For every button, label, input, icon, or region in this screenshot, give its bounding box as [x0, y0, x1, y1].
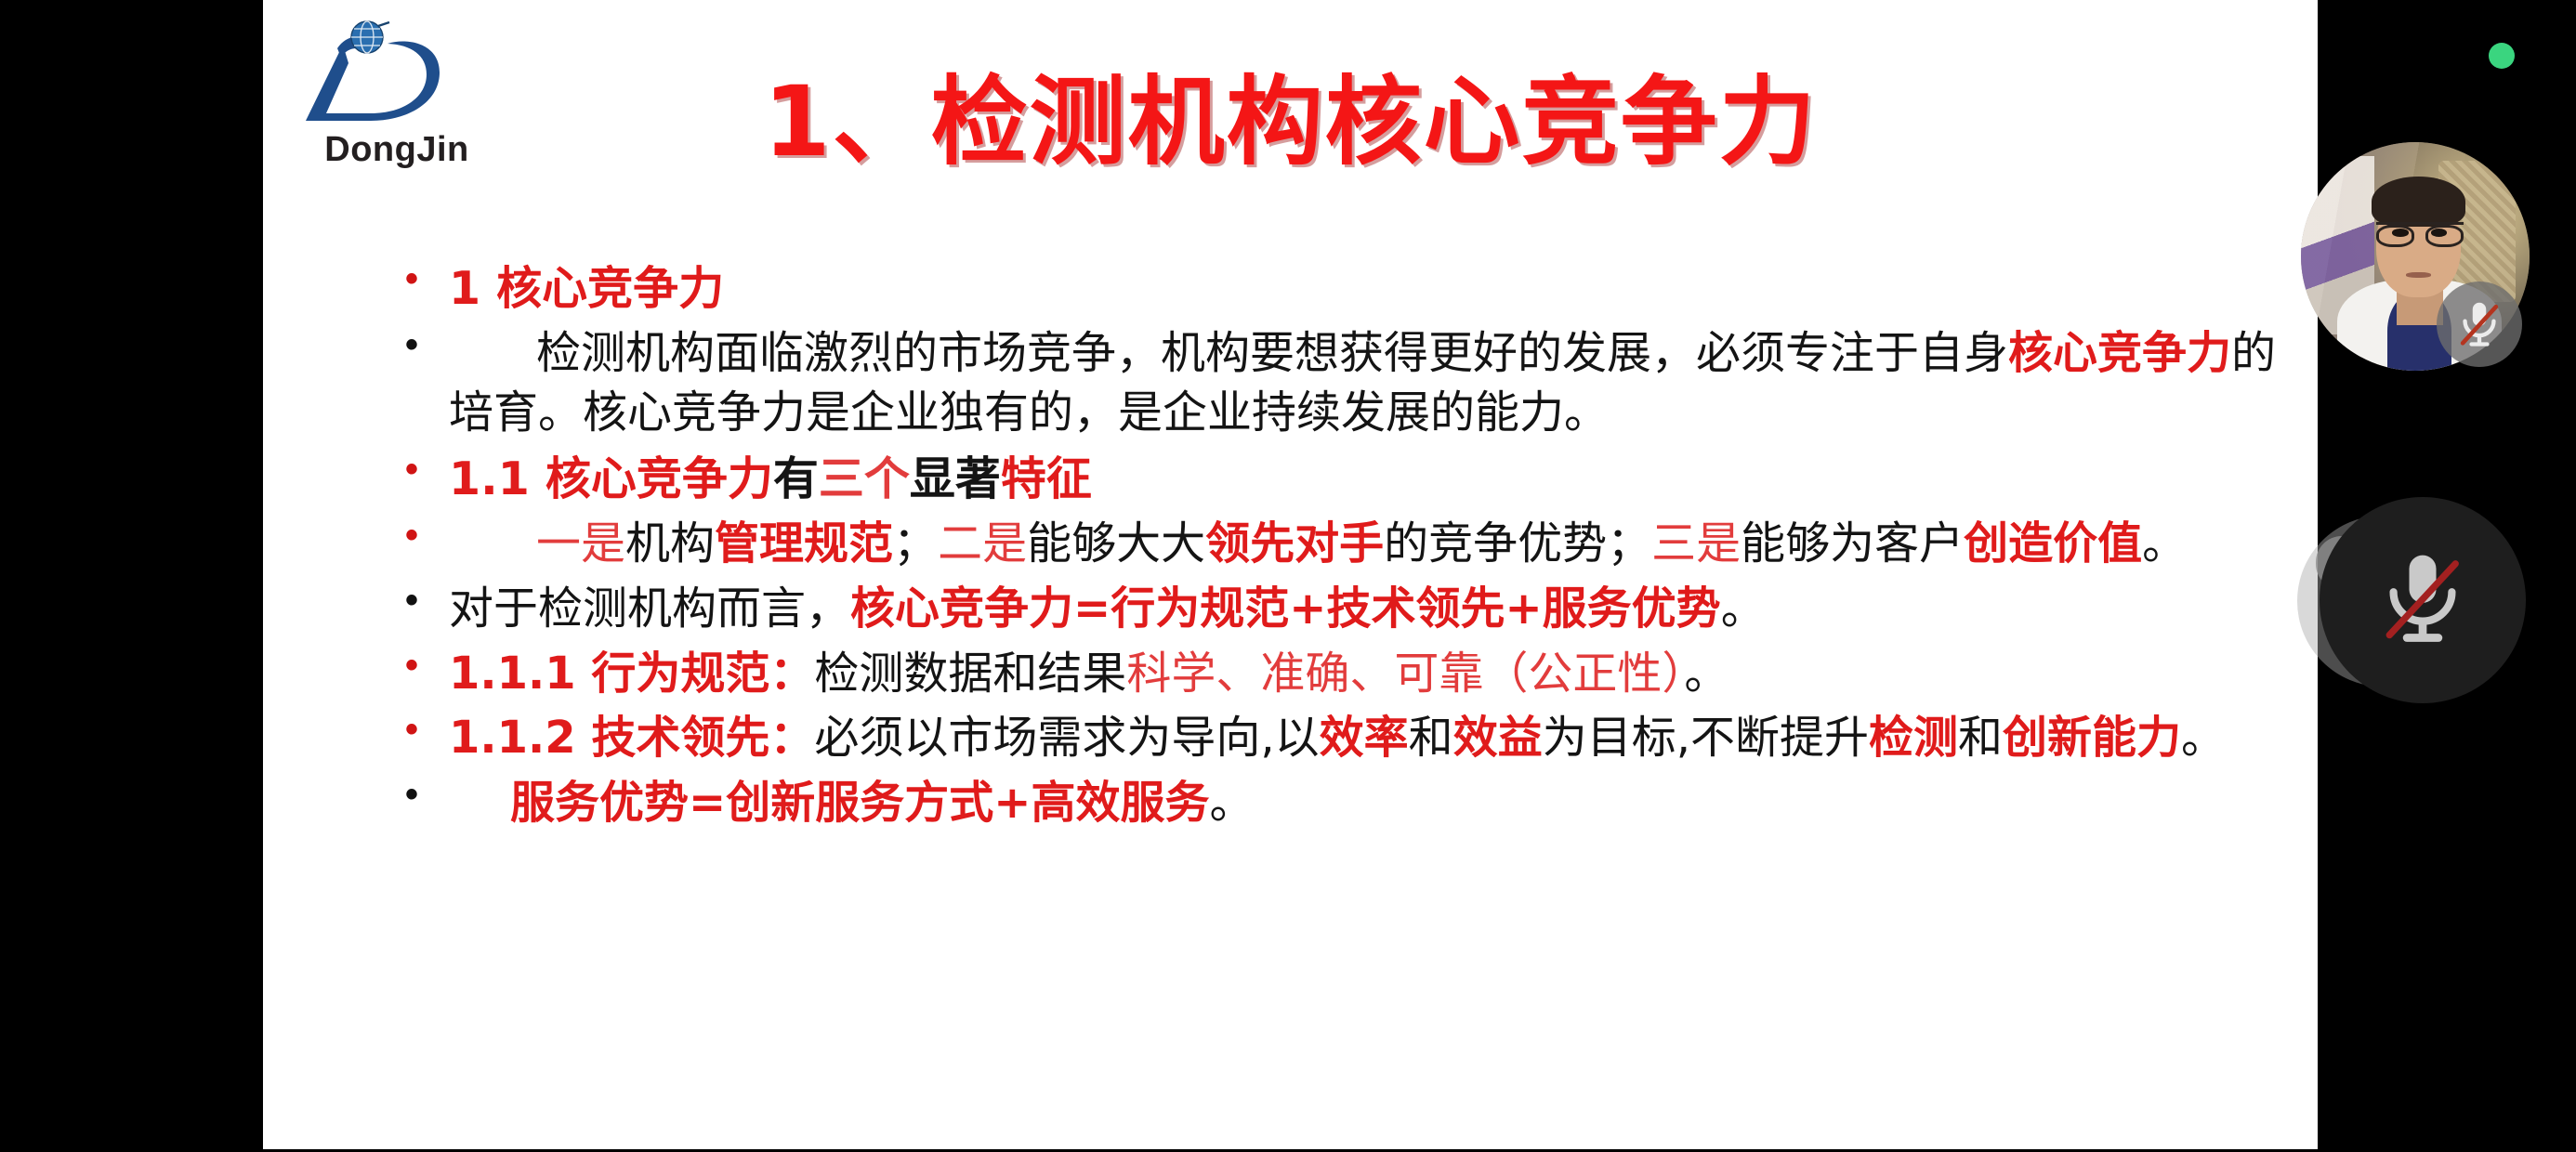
list-item-text: 1.1.1 行为规范：检测数据和结果科学、准确、可靠（公正性）。: [449, 648, 1728, 700]
slide-title: 1、检测机构核心竞争力: [263, 65, 2318, 179]
bullet-glyph: •: [400, 449, 424, 491]
bullet-glyph: •: [400, 774, 424, 816]
mute-toggle-button[interactable]: [2320, 497, 2526, 703]
presentation-slide: DongJin 1、检测机构核心竞争力 • 1 核心竞争力 • 检测机构面临激烈…: [263, 0, 2318, 1149]
participant-tile[interactable]: 朱雄飞: [2301, 142, 2530, 371]
list-item: • 1.1.1 行为规范：检测数据和结果科学、准确、可靠（公正性）。: [375, 645, 2289, 704]
list-item-text: 1.1.2 技术领先：必须以市场需求为导向,以效率和效益为目标,不断提升检测和创…: [449, 712, 2226, 764]
screen-share-stage: DongJin 1、检测机构核心竞争力 • 1 核心竞争力 • 检测机构面临激烈…: [0, 0, 2576, 1152]
bullet-glyph: •: [400, 580, 424, 622]
list-item: • 对于检测机构而言，核心竞争力=行为规范+技术领先+服务优势。: [375, 580, 2289, 639]
list-item-text: 检测机构面临激烈的市场竞争，机构要想获得更好的发展，必须专注于自身核心竞争力的培…: [449, 327, 2276, 439]
slide-body-list: • 1 核心竞争力 • 检测机构面临激烈的市场竞争，机构要想获得更好的发展，必须…: [375, 258, 2289, 839]
list-item-text: 一是机构管理规范；二是能够大大领先对手的竞争优势；三是能够为客户创造价值。: [449, 517, 2187, 569]
list-item-text: 1.1 核心竞争力有三个显著特征: [449, 452, 1092, 505]
list-item-text: 服务优势=创新服务方式+高效服务。: [449, 777, 1254, 829]
list-item: • 1 核心竞争力: [375, 258, 2289, 319]
bullet-glyph: •: [400, 709, 424, 751]
list-item-text: 对于检测机构而言，核心竞争力=行为规范+技术领先+服务优势。: [449, 583, 1766, 635]
list-item: • 1.1 核心竞争力有三个显著特征: [375, 449, 2289, 509]
list-item: • 服务优势=创新服务方式+高效服务。: [375, 774, 2289, 833]
bullet-glyph: •: [400, 324, 424, 366]
bullet-glyph: •: [400, 515, 424, 556]
recording-status-dot-icon: [2489, 43, 2515, 69]
video-participant-rail: 朱雄飞: [2318, 0, 2576, 1152]
list-item: • 1.1.2 技术领先：必须以市场需求为导向,以效率和效益为目标,不断提升检测…: [375, 709, 2289, 768]
list-item: • 检测机构面临激烈的市场竞争，机构要想获得更好的发展，必须专注于自身核心竞争力…: [375, 324, 2289, 443]
bullet-glyph: •: [400, 258, 424, 300]
list-item: • 一是机构管理规范；二是能够大大领先对手的竞争优势；三是能够为客户创造价值。: [375, 515, 2289, 574]
bullet-glyph: •: [400, 645, 424, 687]
list-item-text: 1 核心竞争力: [449, 262, 724, 315]
mic-off-icon: [2369, 544, 2477, 657]
mic-off-icon: [2437, 281, 2522, 367]
